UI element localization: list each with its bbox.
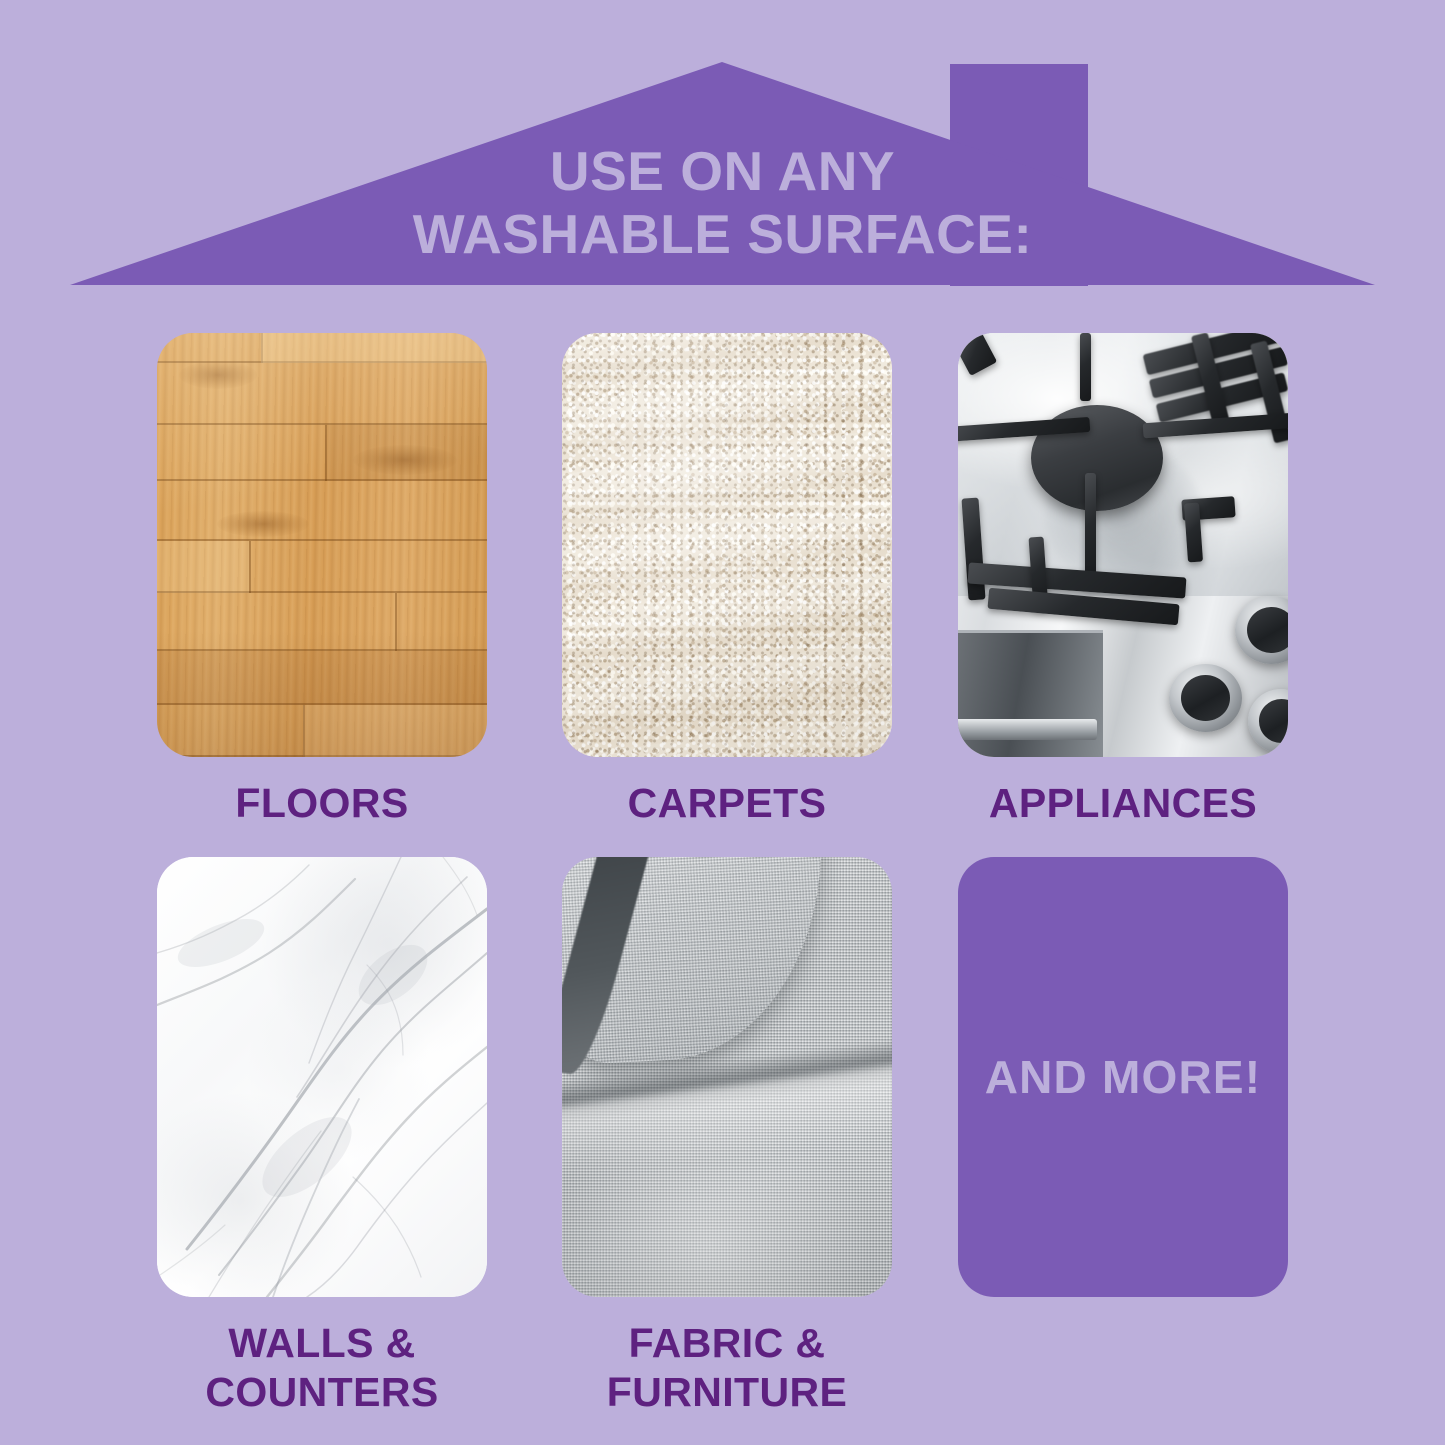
surface-label-walls-counters: WALLS & COUNTERS <box>157 1297 487 1427</box>
surface-label-text: COUNTERS <box>157 1368 487 1417</box>
surface-label-text: FLOORS <box>157 779 487 828</box>
stove-control-knob[interactable] <box>1169 664 1242 732</box>
surface-tile-carpets[interactable] <box>562 333 892 757</box>
surface-tile-fabric-furniture[interactable] <box>562 857 892 1297</box>
marble-surface-image <box>157 857 487 1297</box>
surface-label-text: CARPETS <box>562 779 892 828</box>
sofa-fabric-image <box>562 857 892 1297</box>
oven-handle <box>958 719 1097 740</box>
surface-label-carpets: CARPETS <box>562 757 892 857</box>
marble-haze <box>157 857 487 1297</box>
surface-tile-appliances[interactable] <box>958 333 1288 757</box>
surface-tile-floors[interactable] <box>157 333 487 757</box>
house-shape-icon <box>0 0 1445 300</box>
and-more-panel: AND MORE! <box>958 857 1288 1297</box>
gas-stovetop-image <box>958 333 1288 757</box>
fabric-shading <box>562 857 892 1297</box>
surface-tile-walls-counters[interactable] <box>157 857 487 1297</box>
surface-tile-and-more[interactable]: AND MORE! <box>958 857 1288 1297</box>
burner-grate-arm <box>1080 333 1091 401</box>
surface-label-appliances: APPLIANCES <box>958 757 1288 857</box>
surface-label-text: WALLS & <box>157 1319 487 1368</box>
carpet-shading <box>562 333 892 757</box>
surface-label-fabric-furniture: FABRIC & FURNITURE <box>562 1297 892 1427</box>
surface-label-floors: FLOORS <box>157 757 487 857</box>
and-more-text: AND MORE! <box>985 1050 1262 1104</box>
carpet-image <box>562 333 892 757</box>
surface-label-text: FABRIC & <box>562 1319 892 1368</box>
surface-label-text: FURNITURE <box>562 1368 892 1417</box>
house-header-banner: USE ON ANY WASHABLE SURFACE: <box>0 0 1445 300</box>
surface-label-text: APPLIANCES <box>958 779 1288 828</box>
hardwood-floor-image <box>157 333 487 757</box>
wood-shading <box>157 333 487 757</box>
surface-grid: FLOORS CARPETS APPLIANCES <box>157 333 1288 1427</box>
surface-label-and-more <box>958 1297 1288 1427</box>
